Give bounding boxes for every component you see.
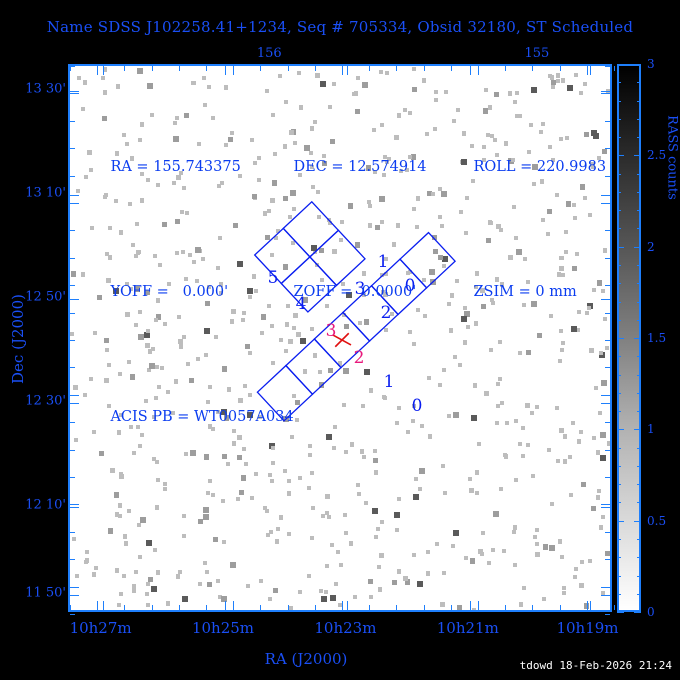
zsim-value: ZSIM = 0 mm xyxy=(473,284,576,300)
y-tick-label: 13 10' xyxy=(25,185,66,200)
colorbar-title: RASS counts xyxy=(665,98,680,218)
yoff-value: YOFF = 0.000' xyxy=(110,280,293,305)
y-axis-title: Dec (J2000) xyxy=(9,279,27,399)
y-tick-label: 11 50' xyxy=(25,585,66,600)
x-tick-label: 10h27m xyxy=(70,619,132,637)
colorbar-tick-label: 0 xyxy=(647,605,655,619)
top-tick-label: 156 xyxy=(257,46,282,61)
top-tick-label: 155 xyxy=(524,46,549,61)
colorbar-tick-label: 2.5 xyxy=(647,148,666,162)
acis-pb-value: ACIS PB = WT0057A034 xyxy=(110,409,293,425)
colorbar-tick-label: 3 xyxy=(647,57,655,71)
colorbar-tick-label: 0.5 xyxy=(647,514,666,528)
x-tick-label: 10h23m xyxy=(314,619,376,637)
page-title: Name SDSS J102258.41+1234, Seq # 705334,… xyxy=(0,18,680,36)
x-tick-label: 10h21m xyxy=(437,619,499,637)
colorbar-tick-label: 1.5 xyxy=(647,331,666,345)
y-tick-label: 12 50' xyxy=(25,289,66,304)
y-tick-label: 12 10' xyxy=(25,498,66,513)
x-tick-label: 10h25m xyxy=(192,619,254,637)
x-tick-label: 10h19m xyxy=(556,619,618,637)
y-tick-label: 12 30' xyxy=(25,394,66,409)
zoff-value: ZOFF = 0.0000' xyxy=(293,280,473,305)
ra-value: RA = 155.743375 xyxy=(110,155,293,180)
footer-credit: tdowd 18-Feb-2026 21:24 xyxy=(520,659,672,672)
colorbar-tick-label: 2 xyxy=(647,240,655,254)
y-tick-label: 13 30' xyxy=(25,81,66,96)
dec-value: DEC = 12.574914 xyxy=(293,155,473,180)
observation-parameters: RA = 155.743375DEC = 12.574914ROLL = 220… xyxy=(92,80,606,480)
roll-value: ROLL = 220.9983 xyxy=(473,159,606,175)
colorbar-tick-label: 1 xyxy=(647,422,655,436)
